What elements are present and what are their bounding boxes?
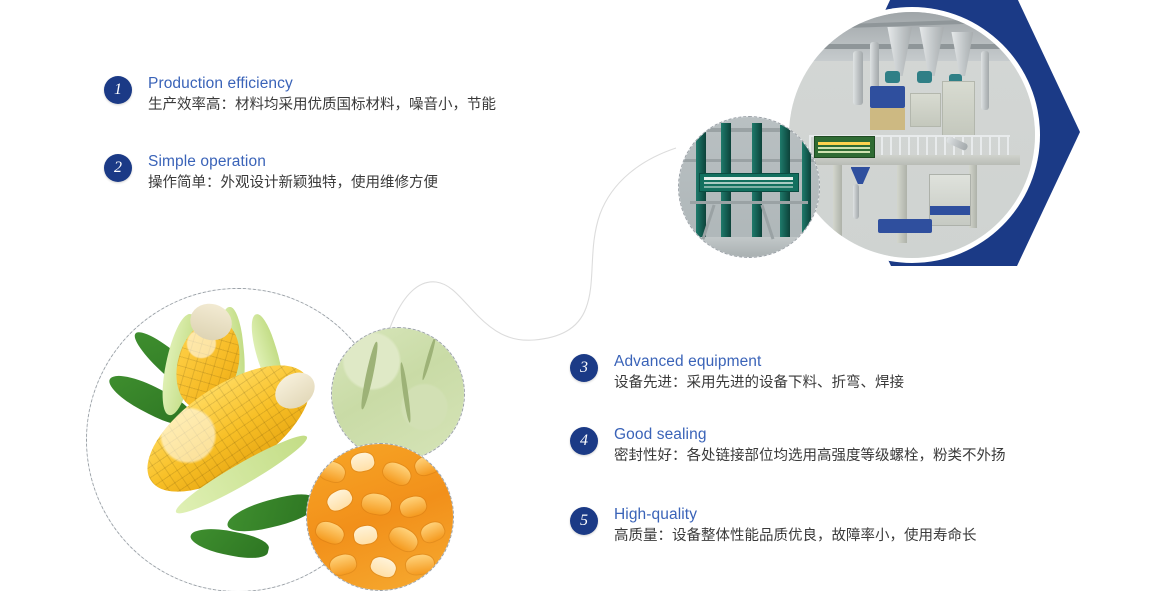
feature-item-3[interactable]: 3 Advanced equipment 设备先进：采用先进的设备下料、折弯、焊…: [570, 352, 904, 394]
feature-badge-4: 4: [570, 427, 598, 455]
corn-grits-kernels-photo: [306, 443, 454, 591]
flour-mill-plant-photo: [789, 12, 1035, 258]
feature-item-2[interactable]: 2 Simple operation 操作简单：外观设计新颖独特，使用维修方便: [104, 152, 438, 194]
feature-text-2: Simple operation 操作简单：外观设计新颖独特，使用维修方便: [148, 152, 438, 194]
green-corn-paste-photo: [331, 327, 465, 461]
feature-title-en-3: Advanced equipment: [614, 352, 904, 371]
feature-title-en-2: Simple operation: [148, 152, 438, 171]
feature-item-5[interactable]: 5 High-quality 高质量：设备整体性能品质优良，故障率小，使用寿命长: [570, 505, 977, 547]
feature-title-en-5: High-quality: [614, 505, 977, 524]
feature-badge-3: 3: [570, 354, 598, 382]
feature-badge-2: 2: [104, 154, 132, 182]
feature-item-1[interactable]: 1 Production efficiency 生产效率高：材料均采用优质国标材…: [104, 74, 496, 116]
green-milling-machine-photo: [678, 116, 820, 258]
feature-title-zh-3: 设备先进：采用先进的设备下料、折弯、焊接: [614, 372, 904, 394]
feature-infographic: 1 Production efficiency 生产效率高：材料均采用优质国标材…: [0, 0, 1154, 591]
feature-title-zh-1: 生产效率高：材料均采用优质国标材料，噪音小，节能: [148, 94, 496, 116]
feature-title-zh-5: 高质量：设备整体性能品质优良，故障率小，使用寿命长: [614, 525, 977, 547]
feature-badge-5: 5: [570, 507, 598, 535]
feature-title-en-1: Production efficiency: [148, 74, 496, 93]
feature-item-4[interactable]: 4 Good sealing 密封性好：各处链接部位均选用高强度等级螺栓，粉类不…: [570, 425, 1006, 467]
feature-text-3: Advanced equipment 设备先进：采用先进的设备下料、折弯、焊接: [614, 352, 904, 394]
feature-title-en-4: Good sealing: [614, 425, 1006, 444]
feature-badge-1: 1: [104, 76, 132, 104]
feature-text-4: Good sealing 密封性好：各处链接部位均选用高强度等级螺栓，粉类不外扬: [614, 425, 1006, 467]
feature-title-zh-2: 操作简单：外观设计新颖独特，使用维修方便: [148, 172, 438, 194]
feature-text-5: High-quality 高质量：设备整体性能品质优良，故障率小，使用寿命长: [614, 505, 977, 547]
feature-title-zh-4: 密封性好：各处链接部位均选用高强度等级螺栓，粉类不外扬: [614, 445, 1006, 467]
feature-text-1: Production efficiency 生产效率高：材料均采用优质国标材料，…: [148, 74, 496, 116]
